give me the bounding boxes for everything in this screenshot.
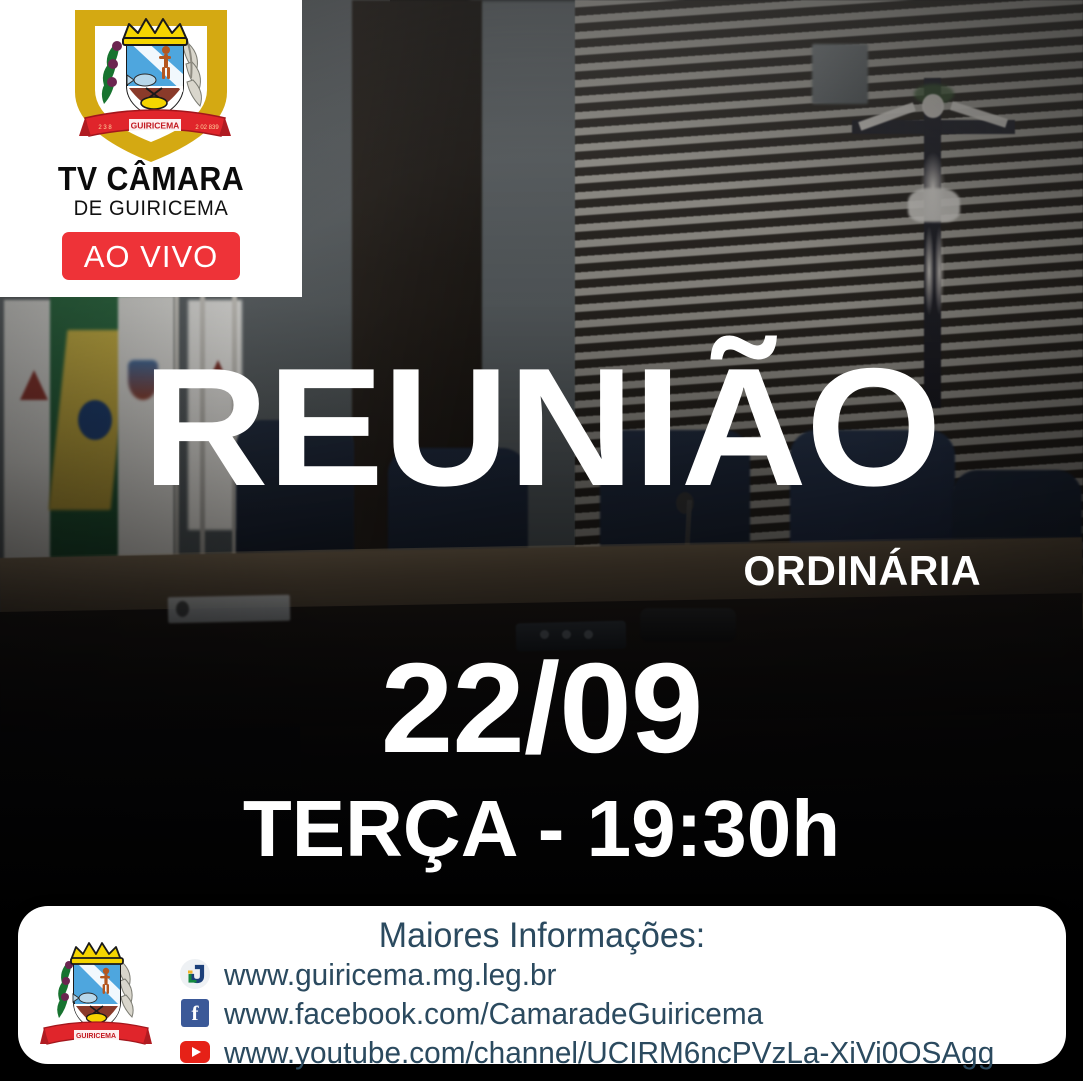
link-row-youtube[interactable]: www.youtube.com/channel/UCIRM6ncPVzLa-Xi… [180,1034,1050,1070]
event-date: 22/09 [0,645,1083,773]
event-date-block: 22/09 TERÇA - 19:30h [0,645,1083,871]
coat-of-arms-large: GUIRICEMA 2 3 8 2 02 839 [61,6,241,166]
crest-banner-left-text: 2 3 8 [98,125,112,131]
more-info-heading: Maiores Informações: [34,916,1051,956]
live-badge-label: AO VIVO [84,241,218,272]
facebook-icon: f [180,998,210,1028]
live-session-poster: GUIRICEMA 2 3 8 2 02 839 TV CÂMARA DE GU… [0,0,1083,1081]
website-url: www.guiricema.mg.leg.br [224,959,556,990]
crest-banner-right-text: 2 02 839 [195,125,219,131]
facebook-url: www.facebook.com/CamaradeGuiricema [224,998,763,1029]
contact-links: www.guiricema.mg.leg.br f www.facebook.c… [180,956,1050,1073]
link-row-facebook[interactable]: f www.facebook.com/CamaradeGuiricema [180,995,1050,1031]
crest-banner-label-small: GUIRICEMA [76,1033,116,1040]
brand-subtitle: DE GUIRICEMA [6,197,296,221]
link-row-website[interactable]: www.guiricema.mg.leg.br [180,956,1050,992]
live-badge: AO VIVO [62,232,240,280]
coat-of-arms-icon: GUIRICEMA 2 3 8 2 02 839 [61,6,241,166]
youtube-url: www.youtube.com/channel/UCIRM6ncPVzLa-Xi… [224,1037,994,1068]
coat-of-arms-small: GUIRICEMA [40,938,152,1058]
brand-title: TV CÂMARA [12,162,290,195]
website-icon [180,959,210,989]
youtube-icon [180,1037,210,1067]
coat-of-arms-footer-icon: GUIRICEMA [40,938,152,1058]
more-info-card: Maiores Informações: [18,906,1066,1064]
tv-camara-logo-card: GUIRICEMA 2 3 8 2 02 839 TV CÂMARA DE GU… [0,0,302,297]
crest-banner-label: GUIRICEMA [131,121,180,131]
headline-kind: ORDINÁRIA [743,547,981,595]
event-weekday-time: TERÇA - 19:30h [0,787,1083,871]
